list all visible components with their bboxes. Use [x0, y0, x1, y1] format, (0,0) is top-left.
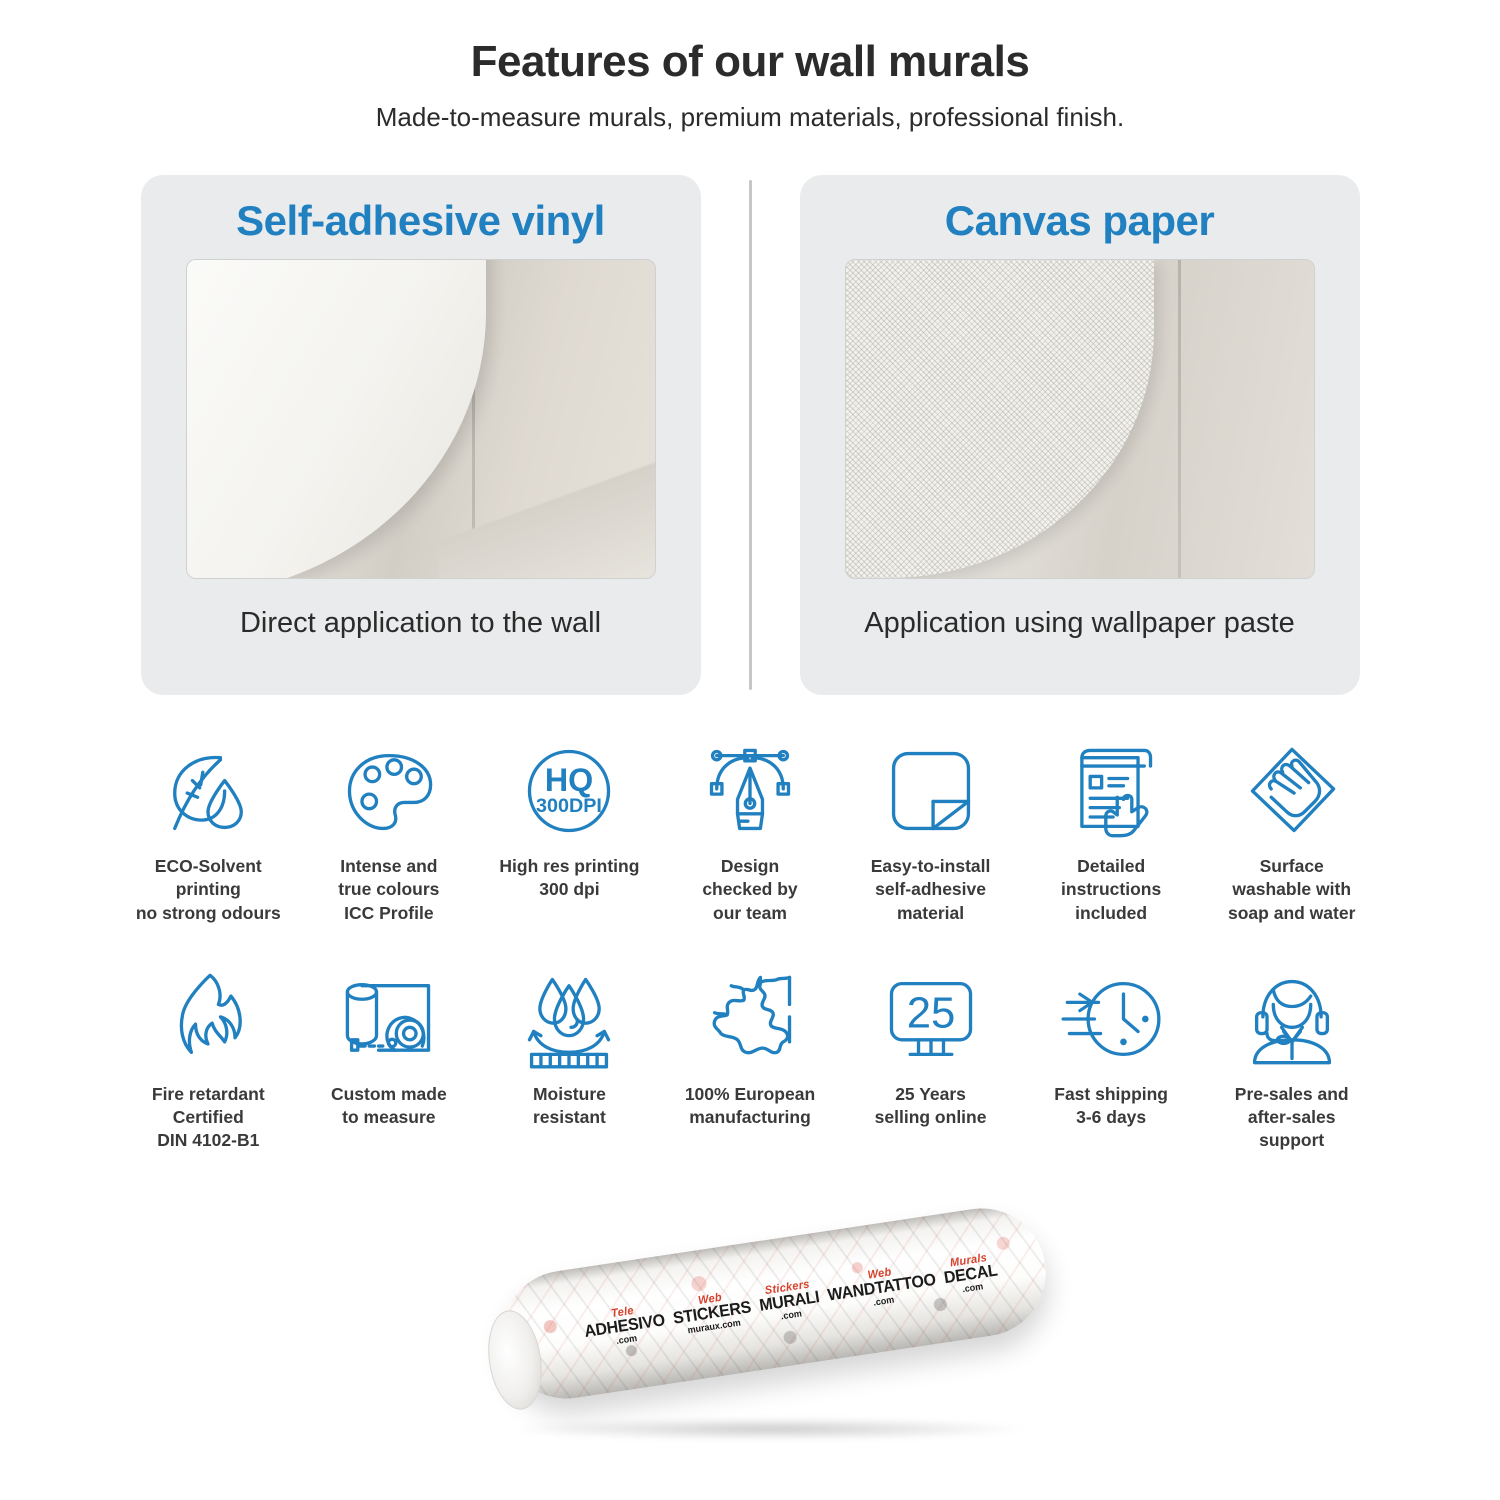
feature-label: High res printing 300 dpi [499, 855, 639, 901]
leaf-droplet-icon [156, 739, 260, 843]
hq-badge-bottom: 300DPI [536, 795, 602, 817]
feature-label: Intense and true colours ICC Profile [338, 855, 439, 924]
feature-custom-made: Custom made to measure [299, 967, 480, 1129]
hand-wiping-cloth-icon [1240, 739, 1344, 843]
feature-washable: Surface washable with soap and water [1201, 739, 1382, 924]
feature-label: Design checked by our team [702, 855, 797, 924]
photo-canvas [845, 259, 1315, 579]
feature-25-years: 25 25 Years selling online [840, 967, 1021, 1129]
feature-true-colours: Intense and true colours ICC Profile [299, 739, 480, 924]
hq-badge-top: HQ [545, 762, 593, 798]
page-subtitle: Made-to-measure murals, premium material… [0, 102, 1500, 133]
feature-support: Pre-sales and after-sales support [1201, 967, 1382, 1152]
tube-logo: Web WANDTATTOO .com [825, 1261, 938, 1314]
tube-shadow [515, 1418, 1025, 1440]
tube-logo: Web STICKERS muraux.com [670, 1288, 753, 1337]
support-headset-icon [1240, 967, 1344, 1071]
feature-row-1: ECO-Solvent printing no strong odours In… [118, 739, 1382, 924]
tube-logo: Stickers MURALI .com [757, 1278, 822, 1324]
shipping-tube: Tele ADHESIVO .com Web STICKERS muraux.c… [445, 1254, 1055, 1444]
feature-easy-install: Easy-to-install self-adhesive material [840, 739, 1021, 924]
monitor-badge-number: 25 [906, 988, 955, 1037]
paint-palette-icon [337, 739, 441, 843]
feature-label: Pre-sales and after-sales support [1235, 1083, 1349, 1152]
panel-title-canvas: Canvas paper [945, 197, 1214, 245]
feature-european-manufacturing: 100% European manufacturing [660, 967, 841, 1129]
feature-label: 25 Years selling online [875, 1083, 987, 1129]
flame-icon [156, 967, 260, 1071]
feature-fast-shipping: Fast shipping 3-6 days [1021, 967, 1202, 1129]
feature-detailed-instructions: Detailed instructions included [1021, 739, 1202, 924]
instructions-hand-icon [1059, 739, 1163, 843]
roll-tape-measure-icon [337, 967, 441, 1071]
hq-300dpi-badge-icon: HQ 300DPI [517, 739, 621, 843]
panel-caption-canvas: Application using wallpaper paste [864, 605, 1294, 641]
feature-grid: ECO-Solvent printing no strong odours In… [0, 739, 1500, 1152]
feature-label: 100% European manufacturing [685, 1083, 815, 1129]
pen-tool-bezier-icon [698, 739, 802, 843]
tube-logo: Tele ADHESIVO .com [582, 1301, 668, 1350]
feature-row-2: Fire retardant Certified DIN 4102-B1 Cus… [118, 967, 1382, 1152]
panel-caption-vinyl: Direct application to the wall [240, 605, 601, 641]
tube-logo: Murals DECAL .com [941, 1251, 1000, 1296]
feature-label: Surface washable with soap and water [1228, 855, 1355, 924]
page-header: Features of our wall murals Made-to-meas… [0, 0, 1500, 133]
feature-high-res: HQ 300DPI High res printing 300 dpi [479, 739, 660, 901]
feature-label: ECO-Solvent printing no strong odours [136, 855, 281, 924]
panel-title-vinyl: Self-adhesive vinyl [236, 197, 605, 245]
feature-fire-retardant: Fire retardant Certified DIN 4102-B1 [118, 967, 299, 1152]
feature-label: Fire retardant Certified DIN 4102-B1 [152, 1083, 265, 1152]
panel-divider [749, 180, 752, 690]
panel-canvas-paper: Canvas paper Application using wallpaper… [800, 175, 1360, 695]
feature-label: Moisture resistant [533, 1083, 606, 1129]
tube-body: Tele ADHESIVO .com Web STICKERS muraux.c… [494, 1200, 1055, 1408]
water-repellent-icon [517, 967, 621, 1071]
photo-vinyl [186, 259, 656, 579]
feature-design-checked: Design checked by our team [660, 739, 841, 924]
fast-clock-icon [1059, 967, 1163, 1071]
feature-label: Custom made to measure [331, 1083, 447, 1129]
feature-label: Detailed instructions included [1061, 855, 1161, 924]
page-title: Features of our wall murals [0, 38, 1500, 86]
feature-label: Fast shipping 3-6 days [1054, 1083, 1168, 1129]
peeling-sticker-icon [879, 739, 983, 843]
europe-map-icon [698, 967, 802, 1071]
panel-self-adhesive-vinyl: Self-adhesive vinyl Direct application t… [141, 175, 701, 695]
feature-moisture-resistant: Moisture resistant [479, 967, 660, 1129]
feature-eco-solvent: ECO-Solvent printing no strong odours [118, 739, 299, 924]
tube-logo-list: Tele ADHESIVO .com Web STICKERS muraux.c… [494, 1200, 1055, 1408]
product-tube-section: Tele ADHESIVO .com Web STICKERS muraux.c… [0, 1224, 1500, 1474]
material-comparison: Self-adhesive vinyl Direct application t… [0, 175, 1500, 695]
feature-label: Easy-to-install self-adhesive material [871, 855, 991, 924]
monitor-25-icon: 25 [879, 967, 983, 1071]
